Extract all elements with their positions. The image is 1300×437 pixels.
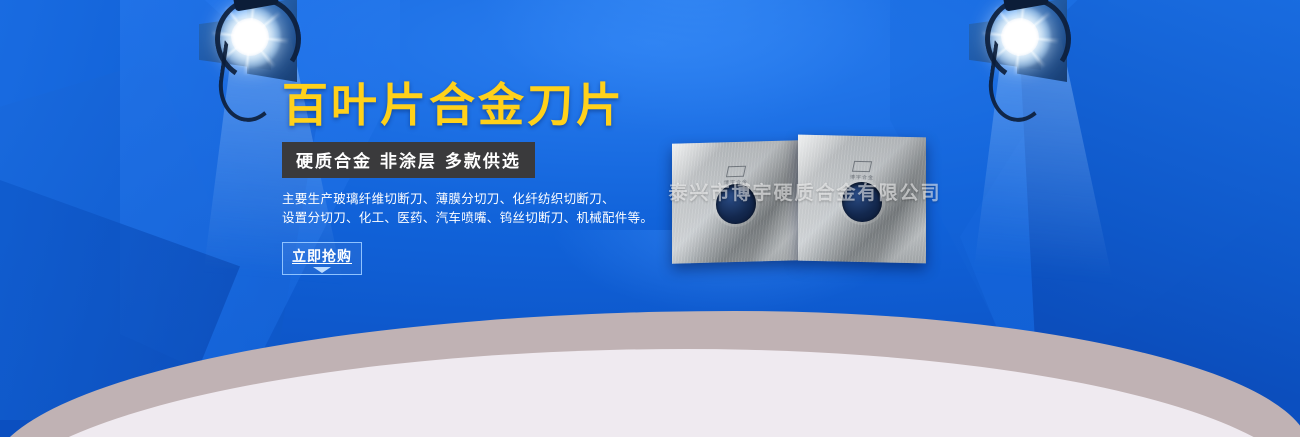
carbide-blade-left: 博宇合金 <box>672 140 800 264</box>
buy-now-button[interactable]: 立即抢购 <box>282 242 362 275</box>
stage-spotlight-icon <box>975 0 1095 142</box>
banner-title: 百叶片合金刀片 <box>282 82 642 128</box>
blade-logo-mark <box>726 166 746 178</box>
promo-banner: 百叶片合金刀片 硬质合金 非涂层 多款供选 主要生产玻璃纤维切断刀、薄膜分切刀、… <box>0 0 1300 437</box>
blade-center-hole <box>842 181 882 222</box>
description-line-1: 主要生产玻璃纤维切断刀、薄膜分切刀、化纤纺织切断刀、 <box>282 189 642 208</box>
blade-emblem-text: 博宇合金 <box>850 175 874 182</box>
banner-description: 主要生产玻璃纤维切断刀、薄膜分切刀、化纤纺织切断刀、 设置分切刀、化工、医药、汽… <box>282 189 642 228</box>
blade-logo-mark <box>852 161 872 172</box>
blade-emblem: 博宇合金 <box>839 161 885 182</box>
banner-subtitle-bar: 硬质合金 非涂层 多款供选 <box>282 142 535 178</box>
chevron-down-icon <box>313 267 331 273</box>
banner-text-block: 百叶片合金刀片 硬质合金 非涂层 多款供选 主要生产玻璃纤维切断刀、薄膜分切刀、… <box>282 82 642 275</box>
description-line-2: 设置分切刀、化工、医药、汽车喷嘴、钨丝切断刀、机械配件等。 <box>282 208 642 227</box>
buy-now-label: 立即抢购 <box>292 246 352 266</box>
carbide-blade-right: 博宇合金 <box>798 135 926 264</box>
product-image: 博宇合金 博宇合金 <box>672 136 942 262</box>
